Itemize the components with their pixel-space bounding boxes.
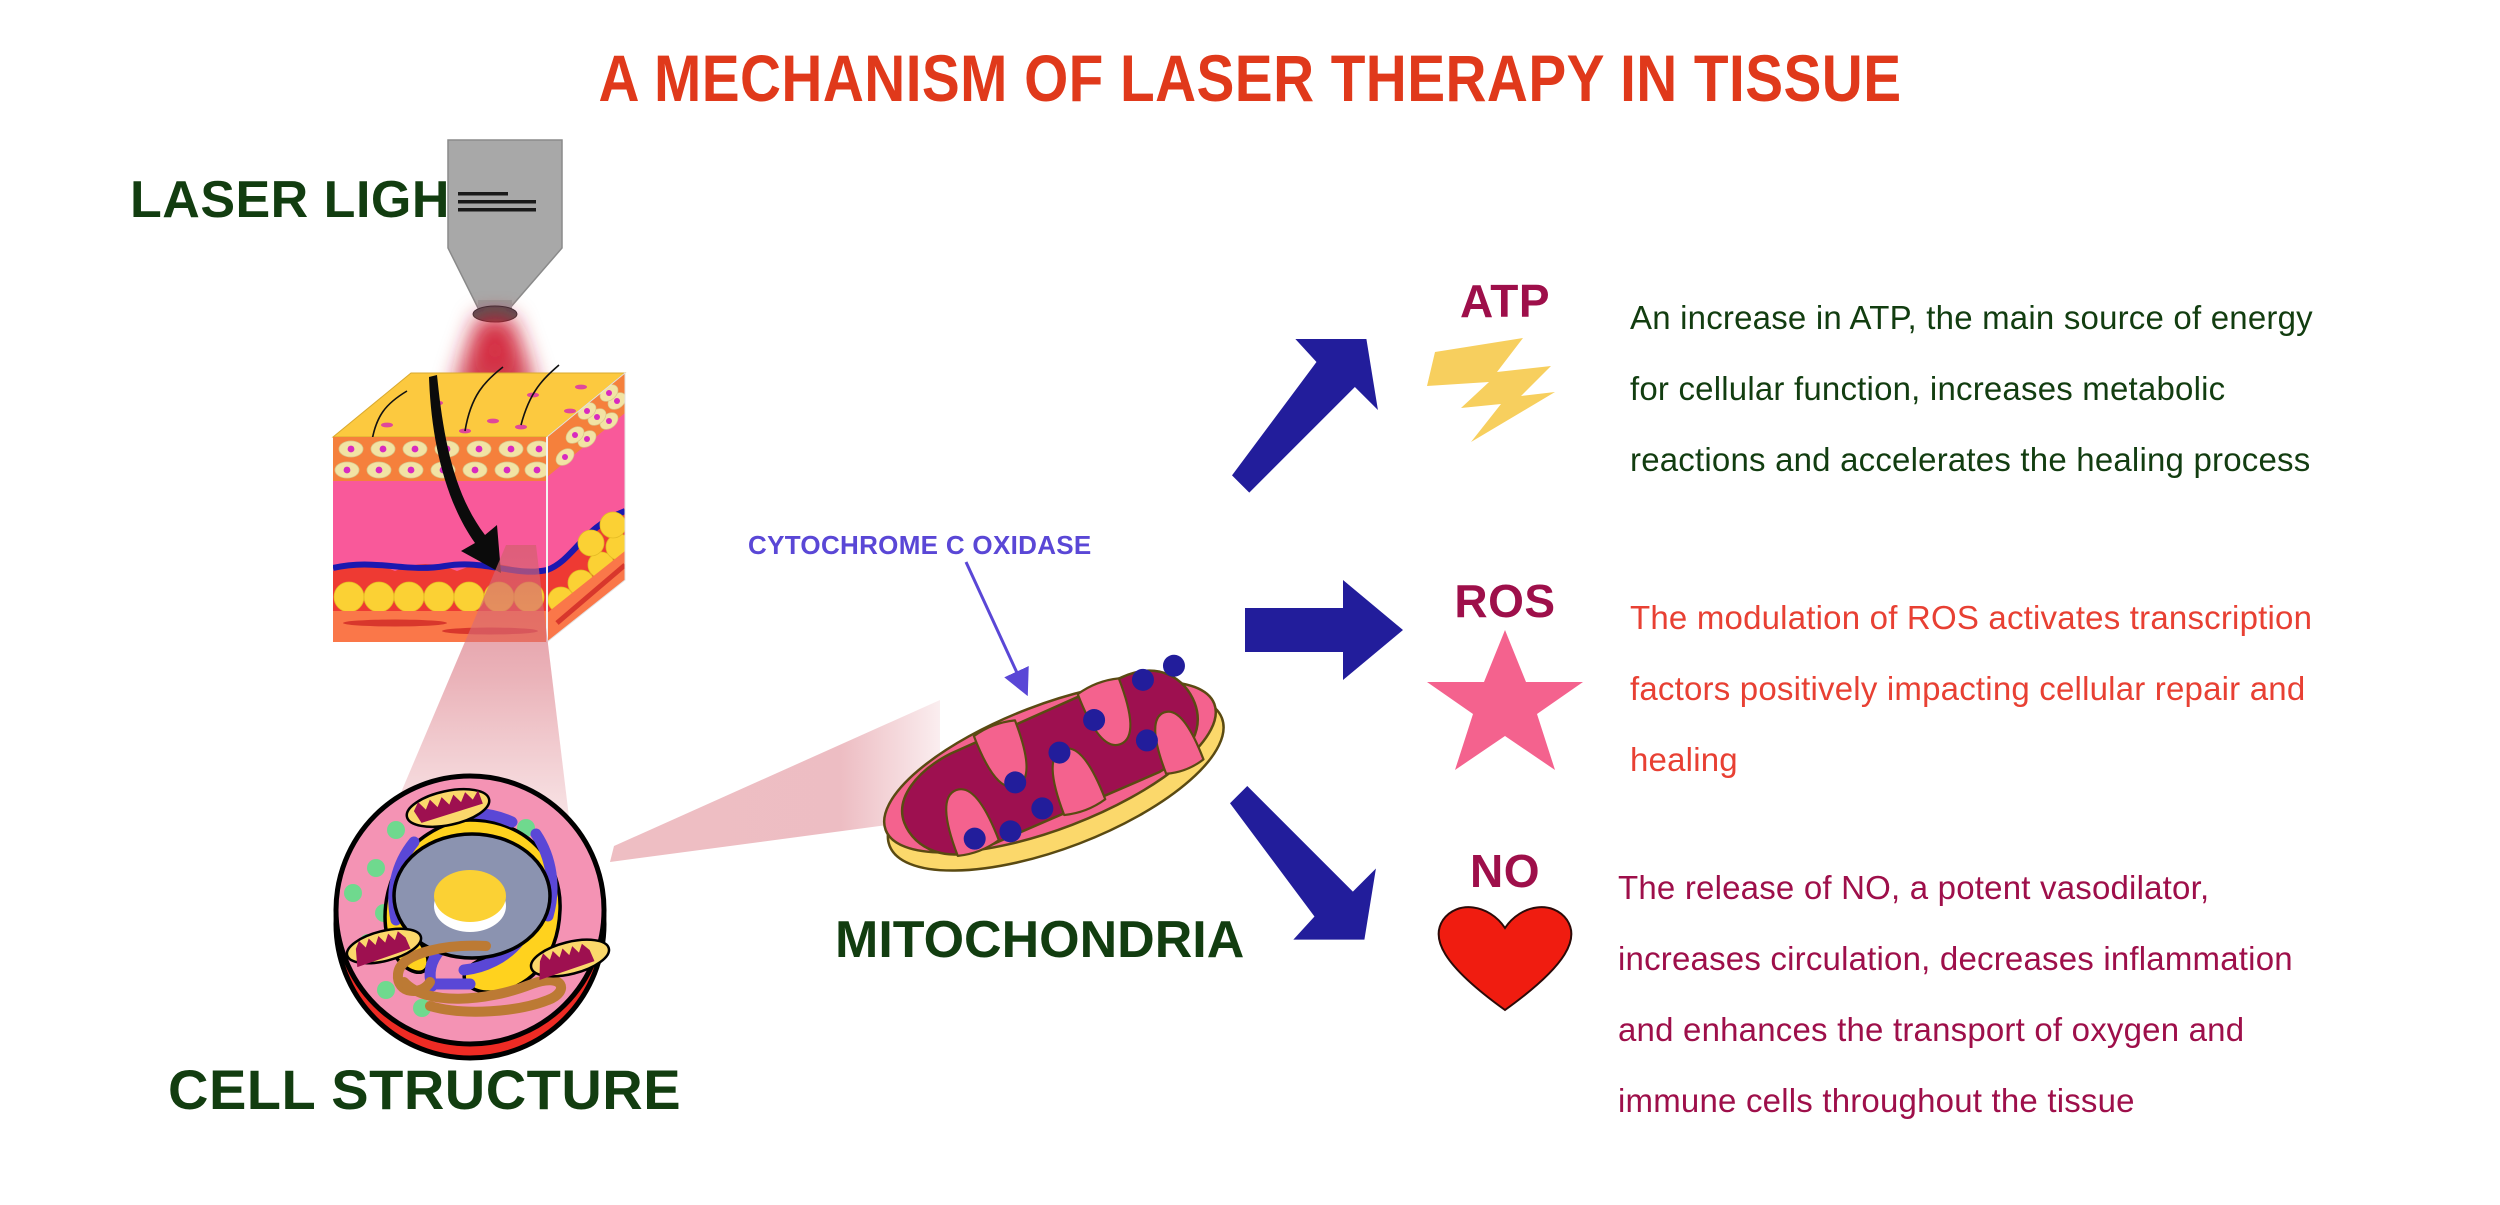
arrow-to-atp — [1240, 345, 1420, 505]
cytochrome-c-oxidase-label: CYTOCHROME C OXIDASE — [748, 530, 1092, 561]
nucleolus — [434, 870, 506, 922]
ros-title: ROS — [1405, 578, 1605, 624]
no-title: NO — [1405, 848, 1605, 894]
no-line-2: increases circulation, decreases inflamm… — [1618, 923, 2448, 994]
atp-title: ATP — [1405, 278, 1605, 324]
arrow-to-ros — [1245, 580, 1405, 680]
no-line-3: and enhances the transport of oxygen and — [1618, 994, 2448, 1065]
atp-line-1: An increase in ATP, the main source of e… — [1630, 282, 2460, 353]
page-title: A MECHANISM OF LASER THERAPY IN TISSUE — [175, 40, 2325, 116]
laser-device-icon — [448, 140, 562, 322]
mitochondria-label: MITOCHONDRIA — [835, 910, 1244, 970]
ros-description: The modulation of ROS activates transcri… — [1630, 582, 2460, 795]
cell-structure-illustration — [318, 778, 638, 1068]
ros-line-3: healing — [1630, 724, 2460, 795]
cell-structure-label: CELL STRUCTURE — [168, 1057, 681, 1122]
outcome-icon-no: NO — [1405, 848, 1605, 1014]
atp-line-3: reactions and accelerates the healing pr… — [1630, 424, 2460, 495]
star-icon — [1405, 624, 1605, 744]
atp-description: An increase in ATP, the main source of e… — [1630, 282, 2460, 495]
ros-line-1: The modulation of ROS activates transcri… — [1630, 582, 2460, 653]
no-description: The release of NO, a potent vasodilator,… — [1618, 852, 2448, 1136]
lightning-bolt-icon — [1405, 324, 1605, 444]
no-line-4: immune cells throughout the tissue — [1618, 1065, 2448, 1136]
cytochrome-leader-line — [960, 560, 1090, 710]
ros-line-2: factors positively impacting cellular re… — [1630, 653, 2460, 724]
heart-icon — [1405, 894, 1605, 1014]
outcome-icon-atp: ATP — [1405, 278, 1605, 444]
no-line-1: The release of NO, a potent vasodilator, — [1618, 852, 2448, 923]
arrow-to-no — [1238, 800, 1418, 960]
outcome-icon-ros: ROS — [1405, 578, 1605, 744]
atp-line-2: for cellular function, increases metabol… — [1630, 353, 2460, 424]
